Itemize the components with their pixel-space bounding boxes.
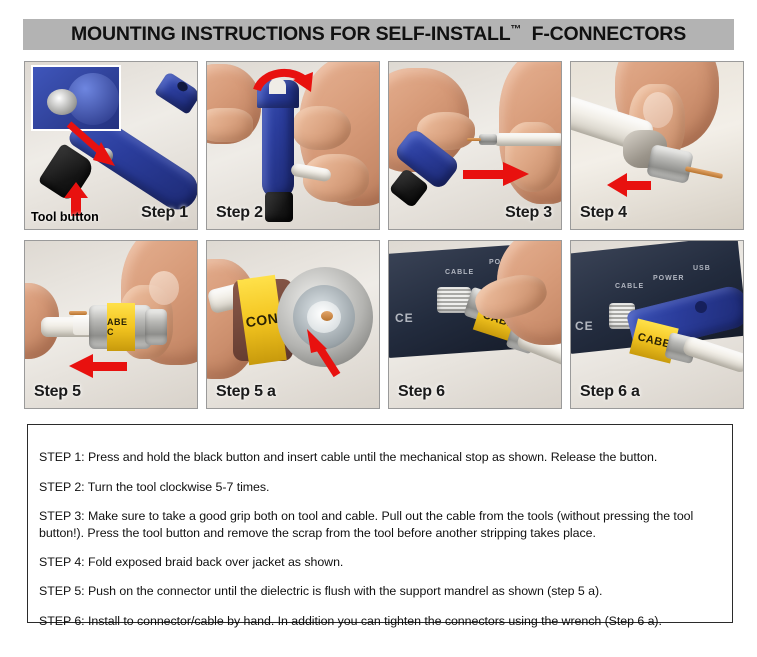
page-title-suffix: F-CONNECTORS [532,23,686,45]
photo-panel-step-4: Step 4 [570,61,744,230]
closeup-silver-ring [47,89,77,115]
fingernail [149,271,179,305]
instruction-step-5: STEP 5: Push on the connector until the … [39,583,720,599]
step-label-5: Step 5 [34,383,81,401]
photo-panel-step-1: Tool button Step 1 [24,61,198,230]
device-label-usb: USB [693,265,711,272]
step-label-5a: Step 5 a [216,383,276,401]
step-label-2: Step 2 [216,204,263,222]
photo-row-top: Tool button Step 1 [24,61,736,230]
device-label-cable: CABLE [615,283,644,290]
page-title: MOUNTING INSTRUCTIONS FOR SELF-INSTALL™ … [71,23,686,46]
ce-mark: CE [575,319,594,333]
photo-panel-step-6: CABLE POWER CE CABE Step 6 [388,240,562,409]
photo-row-bottom: ABE C Step 5 CON [24,240,736,409]
coax-cable [493,133,561,146]
page-title-main: MOUNTING INSTRUCTIONS FOR SELF-INSTALL [71,23,510,45]
step-label-6: Step 6 [398,383,445,401]
center-conductor [467,138,481,141]
cable-braid-end [479,134,497,145]
photo-panel-step-3: Step 3 [388,61,562,230]
photo-panel-step-2: Step 2 [206,61,380,230]
arrow-pull-direction [463,160,529,188]
tool-button-black-cap [265,192,293,222]
left-hand-finger [207,108,253,142]
instruction-step-4: STEP 4: Fold exposed braid back over jac… [39,554,720,570]
device-label-power: POWER [653,275,684,282]
photo-panel-step-5: ABE C Step 5 [24,240,198,409]
step-label-3: Step 3 [505,204,552,222]
center-conductor [69,311,87,315]
connector-nut [145,309,167,345]
arrow-fold-direction [607,172,651,198]
instructions-box: STEP 1: Press and hold the black button … [27,424,733,623]
page-title-bar: MOUNTING INSTRUCTIONS FOR SELF-INSTALL™ … [23,19,734,50]
ce-mark: CE [395,311,414,325]
right-hand-finger [293,106,351,150]
tool-button-callout-label: Tool button [31,210,99,224]
instruction-step-2: STEP 2: Turn the tool clockwise 5-7 time… [39,479,720,495]
connector-yellow-band: ABE C [107,303,135,351]
step-label-4: Step 4 [580,204,627,222]
arrow-to-tool-side-button [63,120,123,170]
rotation-arrow-clockwise [249,64,319,96]
device-label-cable: CABLE [445,269,474,276]
instruction-step-6: STEP 6: Install to connector/cable by ha… [39,613,720,629]
instruction-step-1: STEP 1: Press and hold the black button … [39,449,720,465]
step-label-1: Step 1 [141,204,188,222]
step-label-6a: Step 6 a [580,383,640,401]
instruction-photo-grid: Tool button Step 1 [24,61,736,419]
photo-panel-step-5a: CON Step 5 a [206,240,380,409]
instruction-step-3: STEP 3: Make sure to take a good grip bo… [39,508,720,541]
arrow-push-direction [69,353,127,379]
photo-panel-step-6a: CABLE POWER USB CE CABE Step 6 a [570,240,744,409]
arrow-to-dielectric [303,327,349,379]
trademark-symbol: ™ [510,24,521,36]
center-conductor-face [321,311,333,321]
